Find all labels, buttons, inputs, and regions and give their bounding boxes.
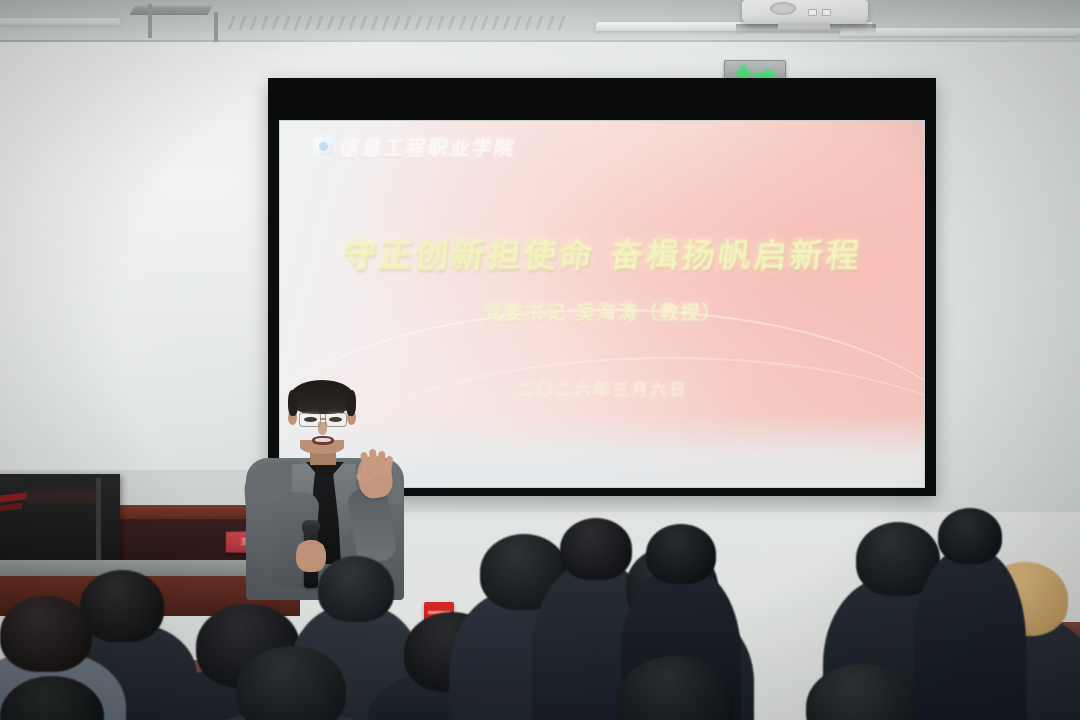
ceiling-rod — [214, 12, 218, 42]
ceiling-light-fixture — [0, 18, 121, 25]
projector-mount — [778, 22, 830, 29]
speaker-glasses-lens-right — [325, 412, 347, 427]
speaker-hair-side — [346, 390, 356, 416]
cabinet-reflection — [24, 490, 100, 503]
speaker-glasses-bridge — [320, 418, 326, 420]
audience-person-head — [560, 518, 632, 580]
speaker-finger — [298, 552, 325, 558]
audience-person-head — [318, 556, 394, 622]
ceiling-bracket — [130, 6, 213, 15]
ceiling-texture — [227, 16, 572, 30]
projector-port — [822, 9, 831, 16]
speaker-nose — [318, 422, 327, 435]
cabinet-edge — [96, 478, 101, 562]
slide-institution-logo: 信息工程职业学院 — [314, 132, 516, 161]
speaker-hair-side — [288, 390, 298, 416]
ceiling-rod — [148, 4, 152, 38]
university-emblem-icon — [314, 137, 333, 156]
lecture-hall-photo: 信息工程职业学院 守正创新担使命 奋楫扬帆启新程 党委书记 吴海涛（教授） 二〇… — [0, 0, 1080, 720]
audience-person-head — [646, 524, 716, 584]
ceiling-projector — [742, 0, 868, 24]
speaker-finger — [298, 544, 324, 550]
audience-person-head — [0, 596, 92, 672]
speaker-finger — [299, 560, 324, 566]
speaker-hair — [290, 380, 354, 414]
screen-header-band — [268, 78, 936, 121]
projector-port — [808, 9, 817, 16]
audience-person-head — [938, 508, 1002, 564]
audience-person-head — [80, 570, 164, 642]
audience-person-torso — [914, 549, 1026, 720]
institution-name: 信息工程职业学院 — [338, 132, 519, 161]
speaker-teeth — [315, 438, 331, 442]
slide-title: 守正创新担使命 奋楫扬帆启新程 — [279, 229, 925, 277]
equipment-cabinet — [0, 474, 120, 570]
slide-subtitle: 党委书记 吴海涛（教授） — [280, 298, 925, 325]
